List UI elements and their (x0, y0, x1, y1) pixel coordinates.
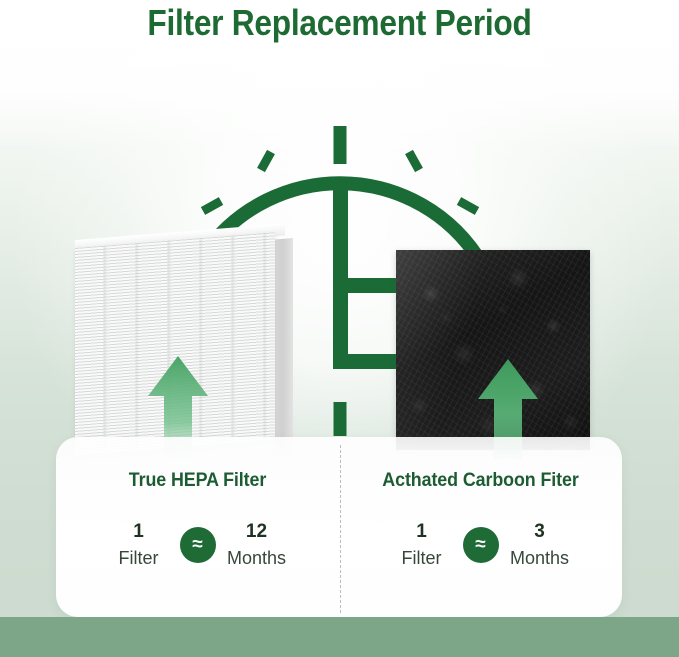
filter-duration-unit: Months (501, 549, 579, 568)
hepa-filter-edge (273, 238, 293, 458)
approximately-equal-icon: ≈ (463, 527, 499, 563)
filter-info-carbon: Acthated Carboon Fiter 1 Filter ≈ 3 Mont… (339, 470, 622, 576)
filter-quantity: 1 Filter (100, 522, 178, 568)
filter-duration-value: 12 (218, 522, 296, 542)
replacement-ratio: 1 Filter ≈ 3 Months (339, 514, 622, 576)
bottom-green-strip (0, 617, 679, 657)
filter-duration: 12 Months (218, 522, 296, 568)
filter-duration-unit: Months (218, 549, 296, 568)
filter-quantity-value: 1 (100, 522, 178, 542)
filter-quantity-unit: Filter (100, 549, 178, 568)
filter-duration: 3 Months (501, 522, 579, 568)
approximately-equal-icon: ≈ (180, 527, 216, 563)
filter-name-label: True HEPA Filter (64, 470, 330, 492)
replacement-ratio: 1 Filter ≈ 12 Months (56, 514, 339, 576)
filter-duration-value: 3 (501, 522, 579, 542)
filter-quantity: 1 Filter (383, 522, 461, 568)
filter-info-hepa: True HEPA Filter 1 Filter ≈ 12 Months (56, 470, 339, 576)
infographic-canvas: Filter Replacement Period (0, 0, 679, 657)
filter-quantity-unit: Filter (383, 549, 461, 568)
filter-name-label: Acthated Carboon Fiter (347, 470, 613, 492)
filter-quantity-value: 1 (383, 522, 461, 542)
